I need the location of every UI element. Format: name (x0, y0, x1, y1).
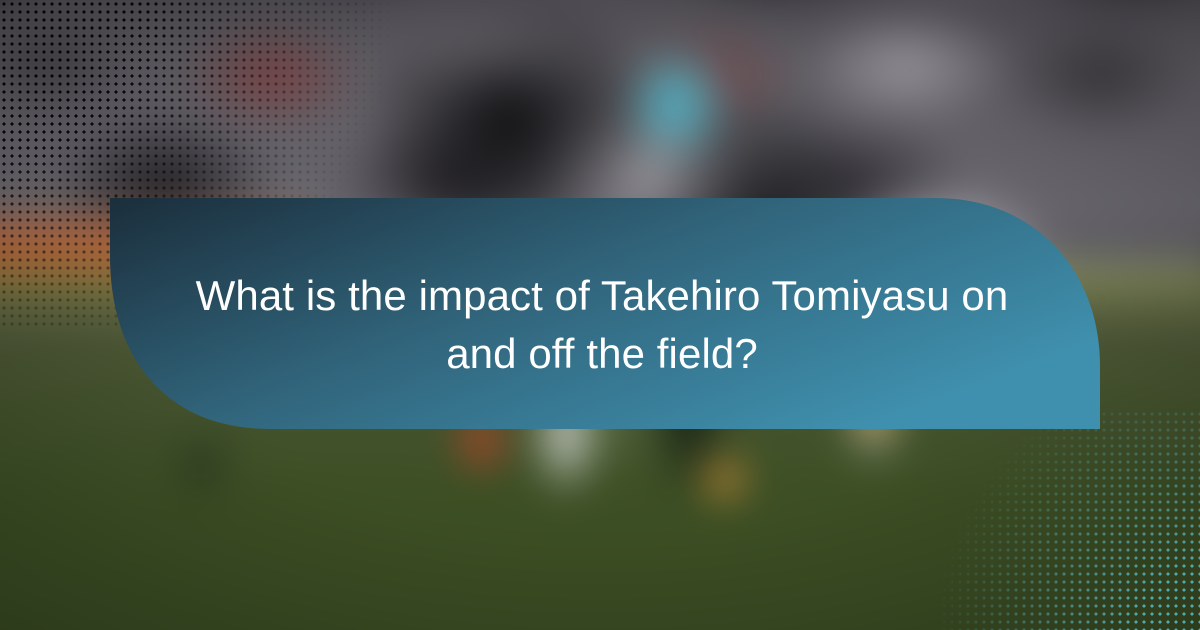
share-card-canvas: What is the impact of Takehiro Tomiyasu … (0, 0, 1200, 630)
question-line-2: and off the field? (446, 325, 758, 383)
question-text-block: What is the impact of Takehiro Tomiyasu … (104, 198, 1100, 429)
question-line-1: What is the impact of Takehiro Tomiyasu … (196, 267, 1009, 325)
